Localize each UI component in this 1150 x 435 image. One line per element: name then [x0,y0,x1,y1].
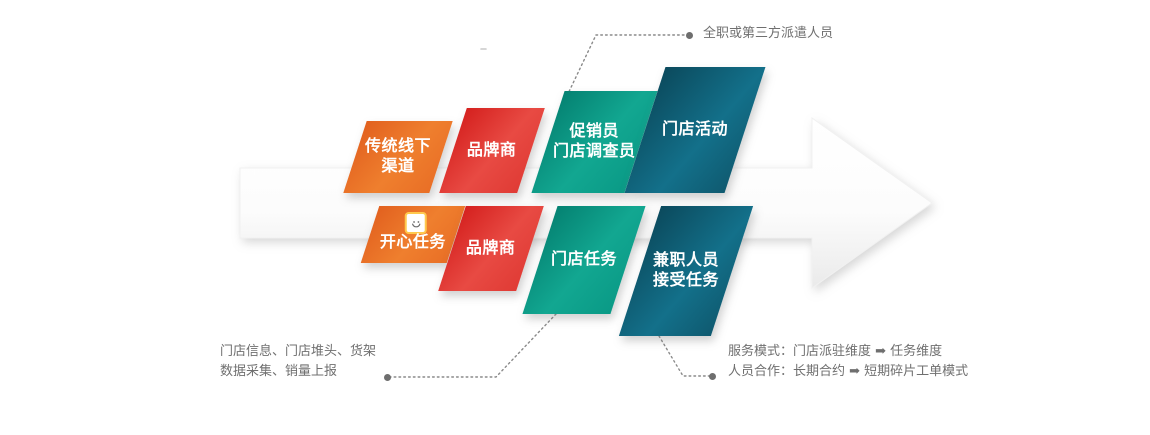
block-label-line: 传统线下 [365,137,431,157]
annotation-service-model: 服务模式：门店派驻维度 ➡ 任务维度 人员合作：长期合约 ➡ 短期碎片工单模式 [728,342,968,382]
block-label-line: 兼职人员 [653,251,719,271]
block-label-line: 门店活动 [662,120,728,140]
connector-dot-top-right [686,32,693,39]
diagram-canvas: 传统线下 渠道 品牌商 促销员 门店调查员 门店活动 开心任务 [0,0,1150,430]
annotation-line: 服务模式：门店派驻维度 ➡ 任务维度 [728,342,968,362]
block-label-line: 开心任务 [380,233,446,253]
block-label-line: 门店调查员 [553,142,636,162]
annotation-staffing: 全职或第三方派遣人员 [703,24,833,44]
block-label-line: 促销员 [553,122,636,142]
connector-bottom-left [390,314,556,377]
connector-bottom-right [659,336,711,376]
annotation-line: 门店信息、门店堆头、货架 [220,342,376,362]
annotation-line: 全职或第三方派遣人员 [703,24,833,44]
block-label-line: 渠道 [365,157,431,177]
annotation-data-collection: 门店信息、门店堆头、货架 数据采集、销量上报 [220,342,376,382]
annotation-line: 数据采集、销量上报 [220,362,376,382]
block-label-line: 品牌商 [467,141,517,161]
connector-dot-bottom-right [709,373,716,380]
block-label-line: 门店任务 [551,250,617,270]
connector-dot-bottom-left [384,374,391,381]
annotation-line: 人员合作：长期合约 ➡ 短期碎片工单模式 [728,362,968,382]
block-label-line: 品牌商 [466,239,516,259]
block-label-line: 接受任务 [653,271,719,291]
